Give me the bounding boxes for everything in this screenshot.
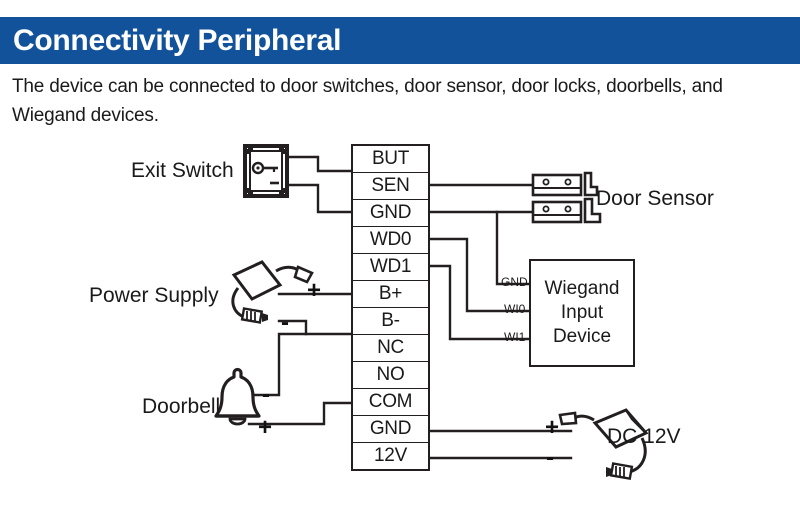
power-supply-minus-sign: - [281, 311, 289, 335]
power-adapter-icon [233, 262, 312, 322]
wire-exit-switch-gnd [287, 185, 351, 212]
wire-exit-switch-but [287, 157, 351, 171]
wiegand-label-line3: Device [553, 325, 611, 349]
wiegand-terminal-wi0: WI0 [504, 302, 525, 316]
door-sensor-label: Door Sensor [596, 187, 714, 211]
dc-power-label: DC 12V [607, 425, 681, 449]
wiegand-terminal-wi1: WI1 [504, 330, 525, 344]
terminal-row-gnd-2[interactable]: GND [353, 416, 428, 443]
magnetic-contact-icon [533, 173, 600, 222]
wire-power-minus-bminus [279, 321, 351, 334]
wire-gnd-wiegand [497, 212, 529, 284]
wiegand-label-line2: Input [561, 301, 603, 325]
exit-switch-label: Exit Switch [131, 159, 234, 183]
key-switch-icon [245, 146, 287, 196]
page-title: Connectivity Peripheral [0, 24, 341, 58]
wiegand-terminal-gnd: GND [501, 275, 528, 289]
doorbell-label: Doorbell [142, 395, 220, 419]
terminal-row-bminus[interactable]: B- [353, 308, 428, 335]
intro-paragraph: The device can be connected to door swit… [12, 72, 794, 130]
terminal-row-gnd-1[interactable]: GND [353, 200, 428, 227]
terminal-row-wd1[interactable]: WD1 [353, 254, 428, 281]
connectivity-peripheral-page: Connectivity Peripheral The device can b… [0, 0, 800, 529]
wiring-diagram: BUT SEN GND WD0 WD1 B+ B- NC NO COM GND … [0, 125, 800, 529]
terminal-row-but[interactable]: BUT [353, 146, 428, 173]
doorbell-minus-sign: - [262, 383, 270, 407]
section-header-bar: Connectivity Peripheral [0, 17, 800, 64]
terminal-row-bplus[interactable]: B+ [353, 281, 428, 308]
terminal-row-com[interactable]: COM [353, 389, 428, 416]
power-supply-plus-sign: + [307, 279, 321, 303]
bell-icon [216, 370, 259, 425]
terminal-row-sen[interactable]: SEN [353, 173, 428, 200]
device-terminal-block: BUT SEN GND WD0 WD1 B+ B- NC NO COM GND … [351, 144, 430, 471]
dc-power-plus-sign: + [545, 416, 559, 440]
terminal-row-no[interactable]: NO [353, 362, 428, 389]
terminal-row-wd0[interactable]: WD0 [353, 227, 428, 254]
wiegand-input-device-box: Wiegand Input Device [529, 259, 635, 367]
terminal-row-nc[interactable]: NC [353, 335, 428, 362]
power-supply-label: Power Supply [89, 284, 219, 308]
dc-power-minus-sign: - [546, 446, 554, 470]
terminal-row-12v[interactable]: 12V [353, 443, 428, 469]
wiegand-label-line1: Wiegand [545, 277, 620, 301]
doorbell-plus-sign: + [258, 416, 272, 440]
wire-doorbell-minus-no [249, 334, 306, 395]
